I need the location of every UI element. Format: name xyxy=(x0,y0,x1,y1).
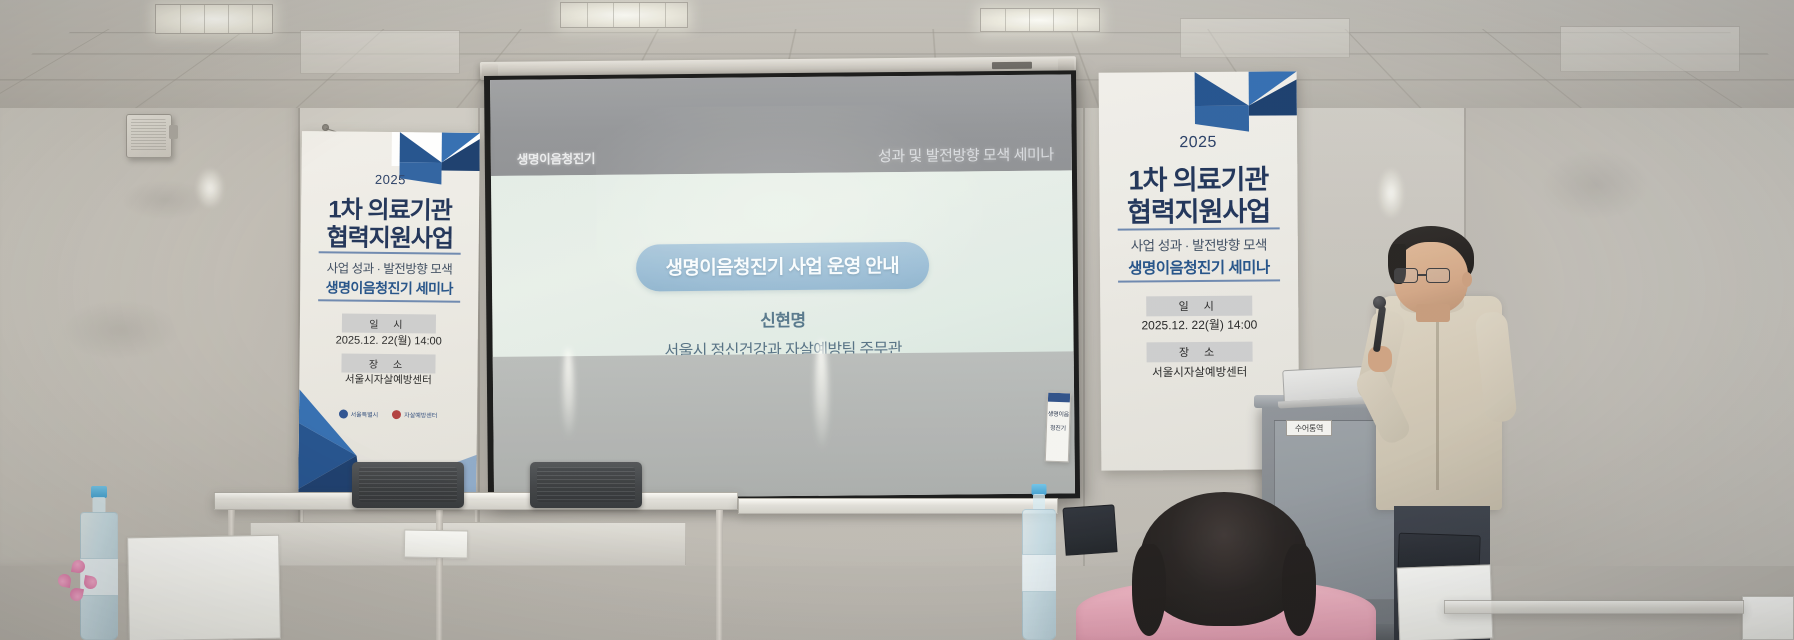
right-banner-sub2: 생명이음청진기 세미나 xyxy=(1100,255,1298,278)
right-banner-field1-value: 2025.12. 22(월) 14:00 xyxy=(1100,315,1298,333)
right-banner-field2-label: 장 소 xyxy=(1146,342,1252,363)
slide-title: 생명이음청진기 사업 운영 안내 xyxy=(635,242,929,292)
chair-mesh-center xyxy=(537,467,635,502)
right-banner-rule-top xyxy=(1118,227,1280,230)
paper-sheet-table[interactable] xyxy=(404,529,468,558)
presenter-ear xyxy=(1462,272,1472,287)
right-banner-rule-bottom xyxy=(1118,279,1280,282)
presenter-glasses-right-lens xyxy=(1426,268,1450,283)
left-banner-field1-value: 2025.12. 22(월) 14:00 xyxy=(300,331,478,349)
ceiling-panel-3 xyxy=(1560,26,1740,72)
left-banner-field2-label: 장 소 xyxy=(341,354,435,374)
chair-back-left xyxy=(352,462,464,508)
left-banner-rule-bottom xyxy=(318,299,460,302)
presenter-jacket-zip xyxy=(1436,310,1439,490)
microphone-head-icon[interactable] xyxy=(1373,296,1386,309)
ceiling-light-1 xyxy=(155,4,273,34)
paper-far-right[interactable] xyxy=(1742,596,1794,640)
bottle-label-2 xyxy=(1022,554,1056,592)
speaker-bracket xyxy=(169,125,178,139)
chair-back-center xyxy=(530,462,642,508)
conference-table-right xyxy=(738,498,1058,514)
mini-poster-line2: 청진기 xyxy=(1047,423,1069,433)
side-table-edge xyxy=(1445,601,1743,608)
right-banner-field2-value: 서울시자살예방센터 xyxy=(1101,363,1299,380)
right-banner-sub1: 사업 성과 · 발전방향 모색 xyxy=(1100,233,1298,254)
slide-header-band: 생명이음청진기 성과 및 발전방향 모색 세미나 xyxy=(490,74,1072,176)
mini-poster-line1: 생명이음 xyxy=(1047,409,1069,419)
left-banner-rule-top xyxy=(319,251,461,254)
left-banner-sub1: 사업 성과 · 발전방향 모색 xyxy=(300,257,478,278)
right-banner-line2: 협력지원사업 xyxy=(1099,189,1297,229)
attendee-laptop-screen[interactable] xyxy=(1062,504,1117,556)
ceiling-panel-1 xyxy=(300,30,460,74)
wall-light-glow-2 xyxy=(1378,168,1404,218)
presenter-glasses-left-lens xyxy=(1394,268,1418,283)
seminar-room-photo: 생명이음청진기 성과 및 발전방향 모색 세미나 생명이음청진기 사업 운영 안… xyxy=(0,0,1794,640)
flower-petal-4 xyxy=(69,587,84,602)
attendee-person xyxy=(1076,492,1376,640)
left-banner-line2: 협력지원사업 xyxy=(301,217,479,254)
banner-left: 2025 1차 의료기관 협력지원사업 사업 성과 · 발전방향 모색 생명이음… xyxy=(298,131,480,501)
left-banner-sub2: 생명이음청진기 세미나 xyxy=(300,277,478,299)
flower-decoration xyxy=(56,560,116,620)
banner-triangle-motif-icon-right xyxy=(1099,71,1297,136)
chair-mesh-left xyxy=(359,467,457,502)
screen-surface: 생명이음청진기 성과 및 발전방향 모색 세미나 생명이음청진기 사업 운영 안… xyxy=(490,74,1075,499)
slide-header-right-text: 성과 및 발전방향 모색 세미나 xyxy=(878,144,1054,167)
water-bottle-center[interactable] xyxy=(1022,484,1056,640)
attendee-hair-left-strand xyxy=(1132,544,1166,636)
left-banner-field1-label: 일 시 xyxy=(342,314,436,334)
flower-petal-3 xyxy=(83,575,98,590)
ceiling-panel-2 xyxy=(1180,18,1350,58)
right-banner-year: 2025 xyxy=(1099,133,1297,152)
mini-poster-header xyxy=(1048,393,1070,403)
flower-petal-1 xyxy=(71,559,86,574)
slide-header-left-text: 생명이음청진기 xyxy=(517,148,596,168)
slide-body: 생명이음청진기 사업 운영 안내 신현명 서울시 정신건강과 자살예방팀 주무관 xyxy=(491,170,1074,372)
table-edge xyxy=(215,493,737,500)
projected-slide: 생명이음청진기 성과 및 발전방향 모색 세미나 생명이음청진기 사업 운영 안… xyxy=(490,74,1074,372)
right-banner-field1-label: 일 시 xyxy=(1146,296,1252,317)
speaker-grill xyxy=(131,119,166,152)
table-edge-right xyxy=(739,499,1057,506)
ceiling-light-2 xyxy=(560,2,688,28)
mini-poster-left: 생명이음 청진기 xyxy=(1045,392,1071,463)
bottle-neck-2 xyxy=(1033,494,1045,510)
flower-petal-2 xyxy=(57,573,72,588)
table-leg-right xyxy=(716,510,723,640)
left-banner-year: 2025 xyxy=(301,171,479,188)
chair-center[interactable] xyxy=(530,462,642,508)
housing-badge xyxy=(992,62,1032,69)
ceiling-light-3 xyxy=(980,8,1100,32)
slide-presenter-name: 신현명 xyxy=(760,306,806,331)
right-banner-corner-art xyxy=(1099,71,1297,136)
wall-light-glow-1 xyxy=(196,168,224,208)
conference-table xyxy=(214,492,738,510)
projection-screen: 생명이음청진기 성과 및 발전방향 모색 세미나 생명이음청진기 사업 운영 안… xyxy=(484,70,1080,504)
attendee-hair-right-strand xyxy=(1282,544,1316,636)
lectern-sign: 수어통역 xyxy=(1286,420,1332,436)
presenter-glasses-bridge xyxy=(1418,274,1426,276)
chair-left[interactable] xyxy=(352,462,464,508)
wall-smudge-2 xyxy=(60,300,180,360)
presenter-neck xyxy=(1416,304,1450,322)
screen-reflection-2 xyxy=(815,340,829,452)
bottle-neck xyxy=(93,497,106,513)
paper-stack-left[interactable] xyxy=(127,535,281,640)
wall-smudge-3 xyxy=(1540,150,1650,220)
wall-speaker xyxy=(126,114,172,158)
screen-reflection-1 xyxy=(563,348,575,440)
side-table xyxy=(1444,600,1744,614)
